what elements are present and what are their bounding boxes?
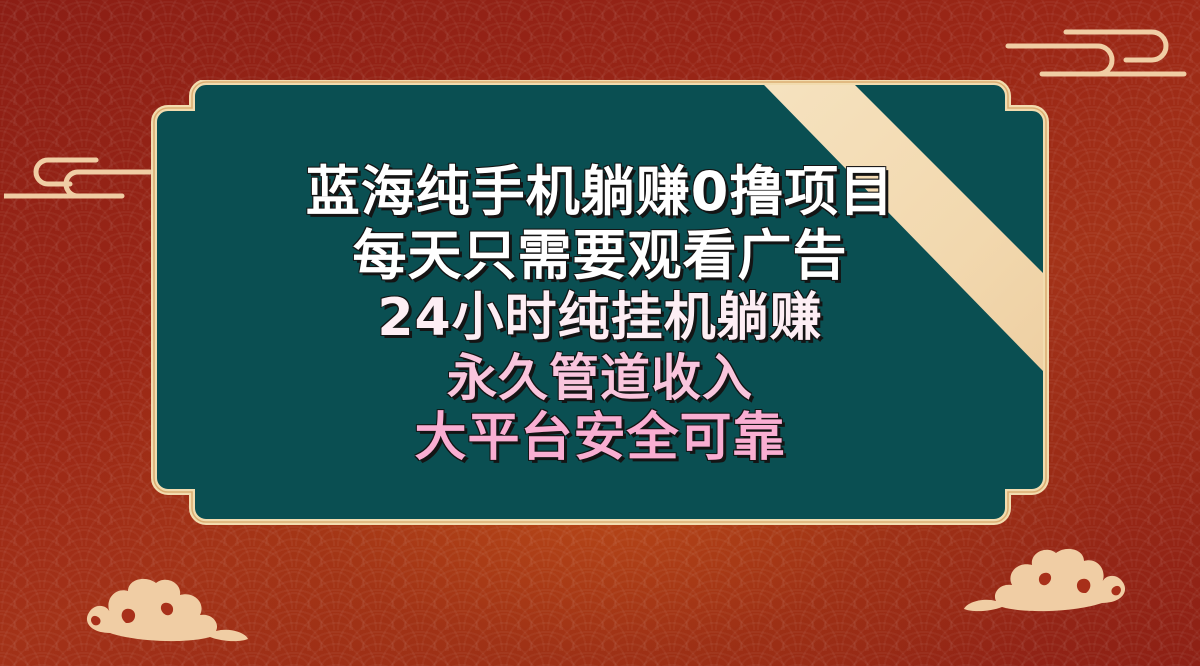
headline-line-1: 蓝海纯手机躺赚0撸项目 [306, 162, 895, 222]
headline-block: 蓝海纯手机躺赚0撸项目 每天只需要观看广告 24小时纯挂机躺赚 永久管道收入 大… [120, 80, 1080, 550]
headline-line-2: 每天只需要观看广告 [353, 226, 848, 286]
headline-line-3: 24小时纯挂机躺赚 [377, 289, 822, 347]
auspicious-cloud-icon-bottom-right [952, 541, 1142, 626]
auspicious-cloud-icon-bottom-left [70, 571, 260, 656]
headline-line-4: 永久管道收入 [447, 350, 753, 406]
headline-line-5: 大平台安全可靠 [414, 409, 785, 467]
promo-poster: 蓝海纯手机躺赚0撸项目 每天只需要观看广告 24小时纯挂机躺赚 永久管道收入 大… [0, 0, 1200, 666]
